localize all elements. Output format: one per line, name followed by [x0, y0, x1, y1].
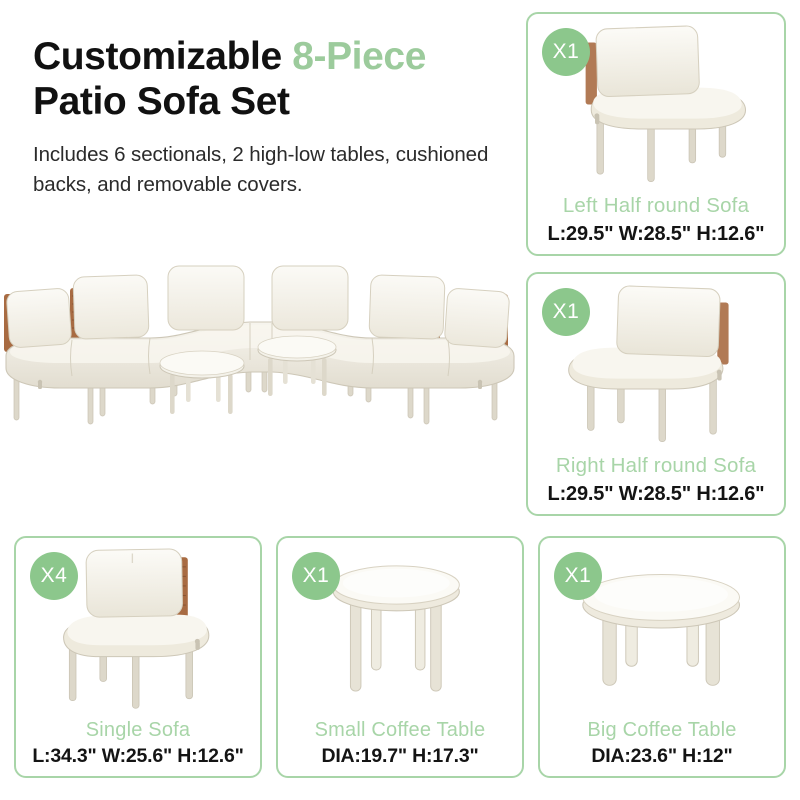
product-card-left-half-sofa[interactable]: X1 Left Half round Sofa L:29. — [526, 12, 786, 256]
card-title: Right Half round Sofa — [528, 454, 784, 479]
card-caption: Big Coffee Table DIA:23.6" H:12" — [540, 718, 784, 768]
page-title: Customizable 8-PiecePatio Sofa Set — [33, 34, 513, 124]
product-card-big-coffee-table[interactable]: X1 Big Coffee Table DIA:23.6" H:12" — [538, 536, 786, 778]
product-card-right-half-sofa[interactable]: X1 Right Half round Sofa L:29 — [526, 272, 786, 516]
card-title: Single Sofa — [16, 718, 260, 742]
card-dimensions: L:29.5" W:28.5" H:12.6" — [528, 482, 784, 506]
quantity-badge: X1 — [292, 552, 340, 600]
product-card-small-coffee-table[interactable]: X1 Small Coffee Table DIA:19.7" H:17.3" — [276, 536, 524, 778]
card-dimensions: L:29.5" W:28.5" H:12.6" — [528, 222, 784, 246]
quantity-badge: X4 — [30, 552, 78, 600]
card-dimensions: DIA:23.6" H:12" — [540, 745, 784, 768]
card-title: Big Coffee Table — [540, 718, 784, 742]
product-card-single-sofa[interactable]: X4 — [14, 536, 262, 778]
card-title: Left Half round Sofa — [528, 194, 784, 219]
card-title: Small Coffee Table — [278, 718, 522, 742]
quantity-badge: X1 — [542, 288, 590, 336]
card-caption: Small Coffee Table DIA:19.7" H:17.3" — [278, 718, 522, 768]
quantity-badge: X1 — [554, 552, 602, 600]
quantity-badge: X1 — [542, 28, 590, 76]
card-dimensions: DIA:19.7" H:17.3" — [278, 745, 522, 768]
headline-text-secondary: Patio Sofa Set — [33, 80, 290, 123]
card-dimensions: L:34.3" W:25.6" H:12.6" — [16, 745, 260, 768]
headline-text-primary: Customizable — [33, 35, 292, 78]
card-caption: Left Half round Sofa L:29.5" W:28.5" H:1… — [528, 194, 784, 246]
card-caption: Right Half round Sofa L:29.5" W:28.5" H:… — [528, 454, 784, 506]
header-block: Customizable 8-PiecePatio Sofa Set Inclu… — [33, 34, 513, 199]
hero-product-image — [0, 252, 520, 457]
page-subtitle: Includes 6 sectionals, 2 high-low tables… — [33, 140, 513, 198]
card-caption: Single Sofa L:34.3" W:25.6" H:12.6" — [16, 718, 260, 768]
headline-text-accent: 8-Piece — [292, 35, 426, 78]
